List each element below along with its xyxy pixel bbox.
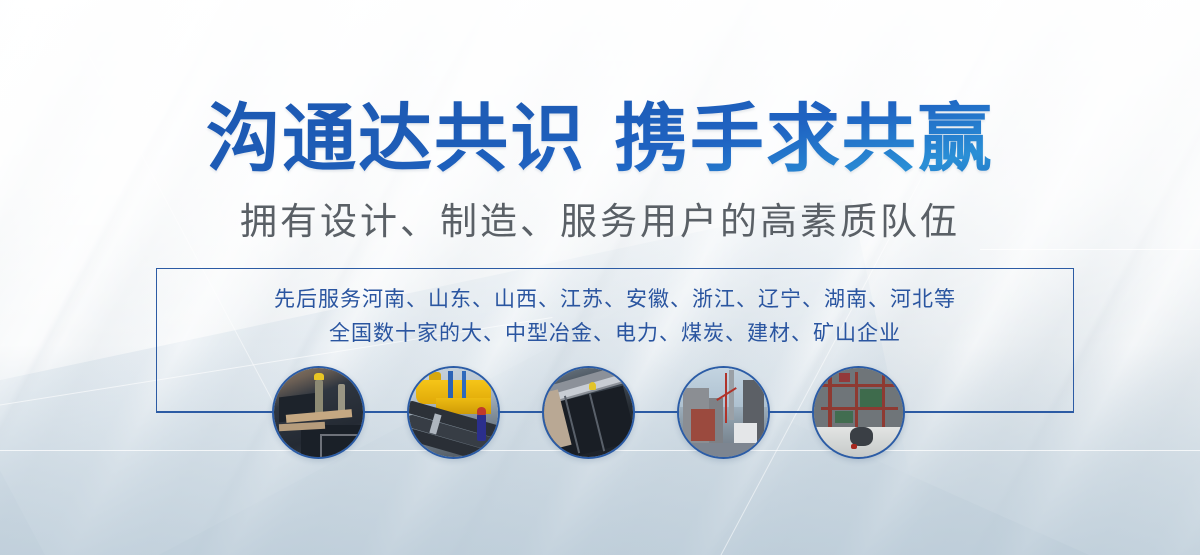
photo-circle-tank-lining-workers[interactable]: [272, 366, 365, 459]
photo-image-yellow-plant-pipes: [409, 368, 498, 457]
page-title: 沟通达共识 携手求共赢: [0, 98, 1200, 180]
info-line-2: 全国数十家的大、中型冶金、电力、煤炭、建材、矿山企业: [156, 316, 1074, 350]
page-subtitle: 拥有设计、制造、服务用户的高素质队伍: [0, 198, 1200, 246]
info-frame-text: 先后服务河南、山东、山西、江苏、安徽、浙江、辽宁、湖南、河北等 全国数十家的大、…: [156, 282, 1074, 350]
photo-image-tank-lining-workers: [274, 368, 363, 457]
promo-banner: 沟通达共识 携手求共赢 沟通达共识 携手求共赢 拥有设计、制造、服务用户的高素质…: [0, 0, 1200, 555]
info-line-1: 先后服务河南、山东、山西、江苏、安徽、浙江、辽宁、湖南、河北等: [156, 282, 1074, 316]
photo-circle-workshop-interior[interactable]: [812, 366, 905, 459]
photo-circle-power-plant-construction[interactable]: [677, 366, 770, 459]
photo-image-workshop-interior: [814, 368, 903, 457]
photo-circle-steel-structure-dark[interactable]: [542, 366, 635, 459]
photo-circle-row: [0, 366, 1200, 466]
photo-circle-yellow-plant-pipes[interactable]: [407, 366, 500, 459]
photo-image-power-plant-construction: [679, 368, 768, 457]
background-line-short-right: [980, 249, 1200, 250]
photo-image-steel-structure-dark: [544, 368, 633, 457]
